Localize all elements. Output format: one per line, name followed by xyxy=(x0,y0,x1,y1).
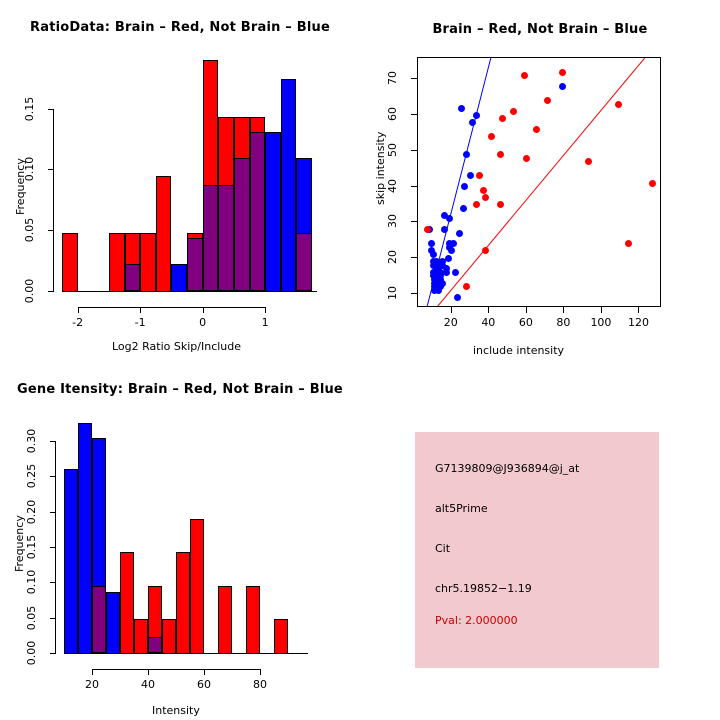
scatter-x-tick xyxy=(451,307,452,313)
gene-info-panel: G7139809@J936894@j_at alt5Prime Cit chr5… xyxy=(415,432,659,668)
ratio-x-baseline xyxy=(62,291,317,292)
scatter-x-tick-label: 40 xyxy=(472,316,504,329)
intensity-scatter-panel: Brain – Red, Not Brain – Blue skip inten… xyxy=(360,0,720,360)
ratio-x-tick xyxy=(78,307,79,313)
ratio-histogram-panel: RatioData: Brain – Red, Not Brain – Blue… xyxy=(0,0,360,360)
scatter-y-tick xyxy=(411,257,417,258)
gene-intensity-histogram-panel: Gene Itensity: Brain – Red, Not Brain – … xyxy=(0,360,360,720)
scatter-y-tick xyxy=(411,150,417,151)
info-pval: Pval: 2.000000 xyxy=(435,614,518,627)
gene-histogram-axes: 0.000.050.100.150.200.250.3020406080 xyxy=(0,360,360,720)
scatter-y-tick-label: 60 xyxy=(379,100,407,128)
scatter-y-tick-label: 50 xyxy=(379,136,407,164)
scatter-x-tick xyxy=(526,307,527,313)
gene-y-tick xyxy=(50,512,56,513)
ratio-y-tick-label: 0.10 xyxy=(16,155,44,183)
gene-x-axis-line xyxy=(92,669,261,670)
gene-y-tick xyxy=(50,582,56,583)
scatter-x-tick-label: 80 xyxy=(547,316,579,329)
ratio-y-tick-label: 0.00 xyxy=(16,277,44,305)
info-locus: chr5.19852−1.19 xyxy=(435,582,532,595)
ratio-y-tick xyxy=(48,230,54,231)
ratio-y-tick-label: 0.15 xyxy=(16,95,44,123)
gene-y-tick xyxy=(50,653,56,654)
ratio-x-tick xyxy=(140,307,141,313)
gene-x-tick-label: 20 xyxy=(76,678,108,691)
scatter-y-tick-label: 70 xyxy=(379,64,407,92)
gene-y-tick xyxy=(50,618,56,619)
plot-page: RatioData: Brain – Red, Not Brain – Blue… xyxy=(0,0,720,720)
scatter-y-tick xyxy=(411,293,417,294)
gene-y-tick-label: 0.25 xyxy=(18,462,46,490)
gene-y-tick-label: 0.20 xyxy=(18,498,46,526)
info-gene-symbol: Cit xyxy=(435,542,450,555)
ratio-x-tick xyxy=(203,307,204,313)
scatter-x-tick xyxy=(563,307,564,313)
ratio-x-axis-line xyxy=(78,307,267,308)
scatter-y-tick-label: 10 xyxy=(379,279,407,307)
scatter-y-tick-label: 40 xyxy=(379,172,407,200)
gene-x-tick xyxy=(148,669,149,675)
scatter-y-tick xyxy=(411,221,417,222)
scatter-x-tick xyxy=(488,307,489,313)
gene-x-tick-label: 80 xyxy=(244,678,276,691)
ratio-x-tick-label: -1 xyxy=(126,316,154,329)
gene-x-tick xyxy=(92,669,93,675)
gene-x-tick-label: 60 xyxy=(188,678,220,691)
ratio-x-tick-label: -2 xyxy=(64,316,92,329)
gene-y-tick xyxy=(50,441,56,442)
gene-x-baseline xyxy=(64,653,308,654)
scatter-y-tick xyxy=(411,114,417,115)
scatter-y-tick-label: 20 xyxy=(379,243,407,271)
scatter-y-tick xyxy=(411,78,417,79)
scatter-x-tick-label: 20 xyxy=(435,316,467,329)
scatter-y-tick xyxy=(411,186,417,187)
ratio-y-tick-label: 0.05 xyxy=(16,216,44,244)
info-event-type: alt5Prime xyxy=(435,502,488,515)
gene-x-tick xyxy=(260,669,261,675)
scatter-x-tick xyxy=(638,307,639,313)
ratio-y-tick xyxy=(48,169,54,170)
gene-y-tick xyxy=(50,476,56,477)
ratio-y-axis-line xyxy=(53,109,54,292)
ratio-x-tick-label: 0 xyxy=(189,316,217,329)
ratio-y-tick xyxy=(48,291,54,292)
ratio-x-tick-label: 1 xyxy=(251,316,279,329)
gene-x-tick-label: 40 xyxy=(132,678,164,691)
gene-y-tick xyxy=(50,547,56,548)
gene-y-tick-label: 0.05 xyxy=(18,604,46,632)
gene-y-tick-label: 0.30 xyxy=(18,427,46,455)
info-probe-id: G7139809@J936894@j_at xyxy=(435,462,579,475)
gene-y-tick-label: 0.00 xyxy=(18,639,46,667)
gene-y-tick-label: 0.15 xyxy=(18,533,46,561)
scatter-x-tick-label: 120 xyxy=(622,316,654,329)
scatter-axes: 1020304050607020406080100120 xyxy=(360,0,720,360)
scatter-y-tick-label: 30 xyxy=(379,207,407,235)
scatter-x-tick-label: 60 xyxy=(510,316,542,329)
scatter-x-tick xyxy=(601,307,602,313)
ratio-y-tick xyxy=(48,109,54,110)
gene-x-tick xyxy=(204,669,205,675)
scatter-x-tick-label: 100 xyxy=(585,316,617,329)
ratio-histogram-axes: 0.000.050.100.15-2-101 xyxy=(0,0,360,360)
ratio-x-tick xyxy=(265,307,266,313)
gene-y-tick-label: 0.10 xyxy=(18,568,46,596)
